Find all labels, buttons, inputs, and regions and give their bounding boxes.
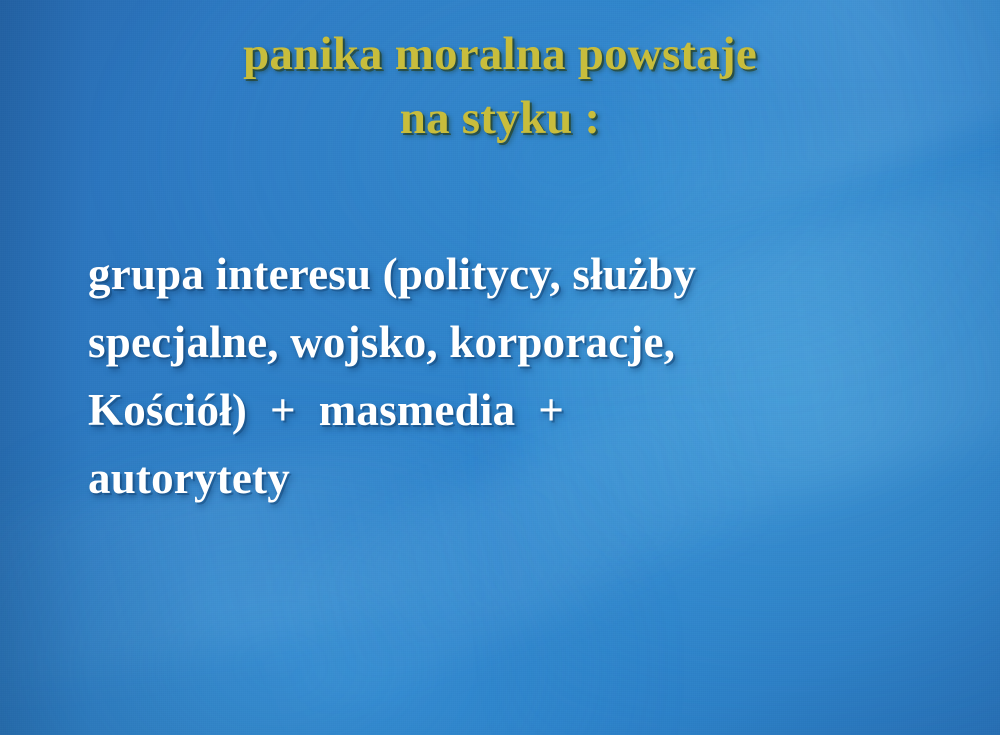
slide-title: panika moralna powstaje na styku : xyxy=(0,22,1000,150)
body-line-3: Kościół) + masmedia + xyxy=(88,376,918,444)
body-line-4: autorytety xyxy=(88,444,918,512)
body-line-1: grupa interesu (politycy, służby xyxy=(88,240,918,308)
slide-body: grupa interesu (politycy, służby specjal… xyxy=(88,240,918,512)
slide-content: panika moralna powstaje na styku : grupa… xyxy=(0,0,1000,735)
title-line-2: na styku : xyxy=(0,86,1000,150)
body-line-2: specjalne, wojsko, korporacje, xyxy=(88,308,918,376)
title-line-1: panika moralna powstaje xyxy=(0,22,1000,86)
presentation-slide: panika moralna powstaje na styku : grupa… xyxy=(0,0,1000,735)
